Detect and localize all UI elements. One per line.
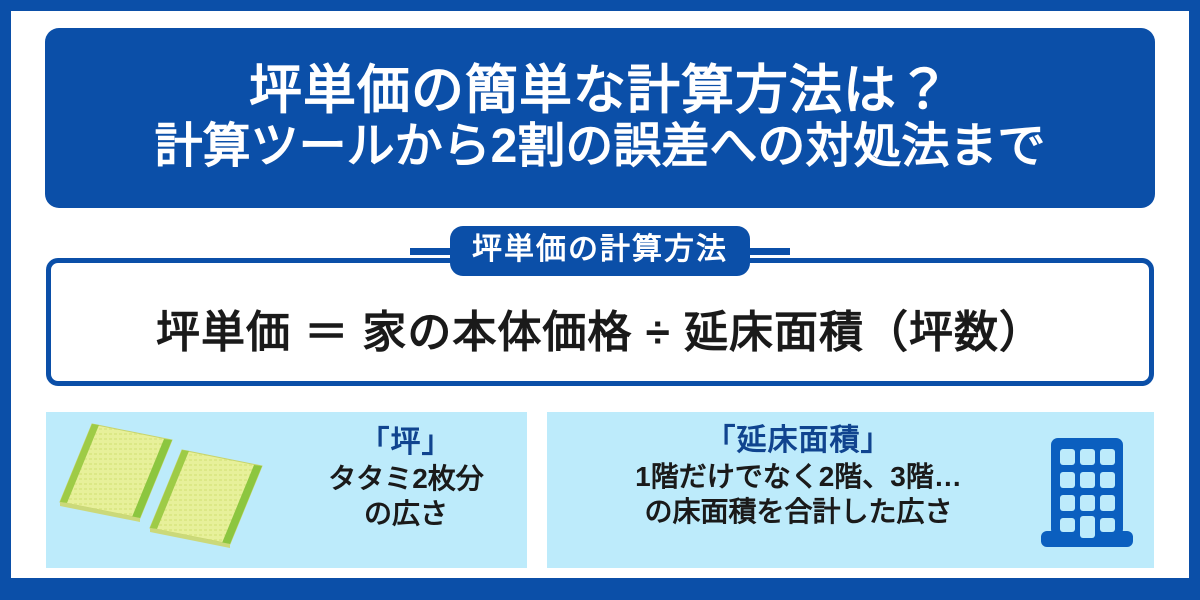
cards-row: 「坪」 タタミ2枚分 の広さ 「延床面積」 1階だけでなく2階、3階… の床面積… xyxy=(46,412,1154,568)
formula-badge-label: 坪単価の計算方法 xyxy=(450,226,750,277)
card-nobeyuka-text: 「延床面積」 1階だけでなく2階、3階… の床面積を合計した広さ xyxy=(561,424,1036,529)
tatami-mats-icon xyxy=(52,416,292,566)
infographic-canvas: 坪単価の簡単な計算方法は？ 計算ツールから2割の誤差への対処法まで 坪単価 ＝ … xyxy=(0,0,1200,600)
formula-box: 坪単価 ＝ 家の本体価格 ÷ 延床面積（坪数） xyxy=(46,258,1154,386)
building-icon xyxy=(1038,432,1136,550)
header-banner: 坪単価の簡単な計算方法は？ 計算ツールから2割の誤差への対処法まで xyxy=(45,28,1155,208)
card-tsubo-text: 「坪」 タタミ2枚分 の広さ xyxy=(291,426,521,531)
card-tsubo-body-line2: の広さ xyxy=(291,496,521,531)
header-title-line1: 坪単価の簡単な計算方法は？ xyxy=(249,62,951,119)
badge-rule-left xyxy=(410,248,450,255)
frame-border-left xyxy=(0,0,11,600)
frame-border-bottom xyxy=(0,578,1200,600)
frame-border-right xyxy=(1189,0,1200,600)
badge-rule-right xyxy=(750,248,790,255)
card-nobeyuka-body-line2: の床面積を合計した広さ xyxy=(561,494,1036,529)
card-tsubo-heading: 「坪」 xyxy=(291,426,521,461)
card-tsubo: 「坪」 タタミ2枚分 の広さ xyxy=(46,412,527,568)
header-title-line2: 計算ツールから2割の誤差への対処法まで xyxy=(155,121,1046,174)
frame-border-top xyxy=(0,0,1200,11)
card-nobeyuka-body-line1: 1階だけでなく2階、3階… xyxy=(561,459,1036,494)
card-nobeyuka-menseki: 「延床面積」 1階だけでなく2階、3階… の床面積を合計した広さ xyxy=(547,412,1154,568)
card-nobeyuka-heading: 「延床面積」 xyxy=(561,424,1036,459)
formula-text: 坪単価 ＝ 家の本体価格 ÷ 延床面積（坪数） xyxy=(156,296,1044,360)
card-tsubo-body-line1: タタミ2枚分 xyxy=(291,461,521,496)
